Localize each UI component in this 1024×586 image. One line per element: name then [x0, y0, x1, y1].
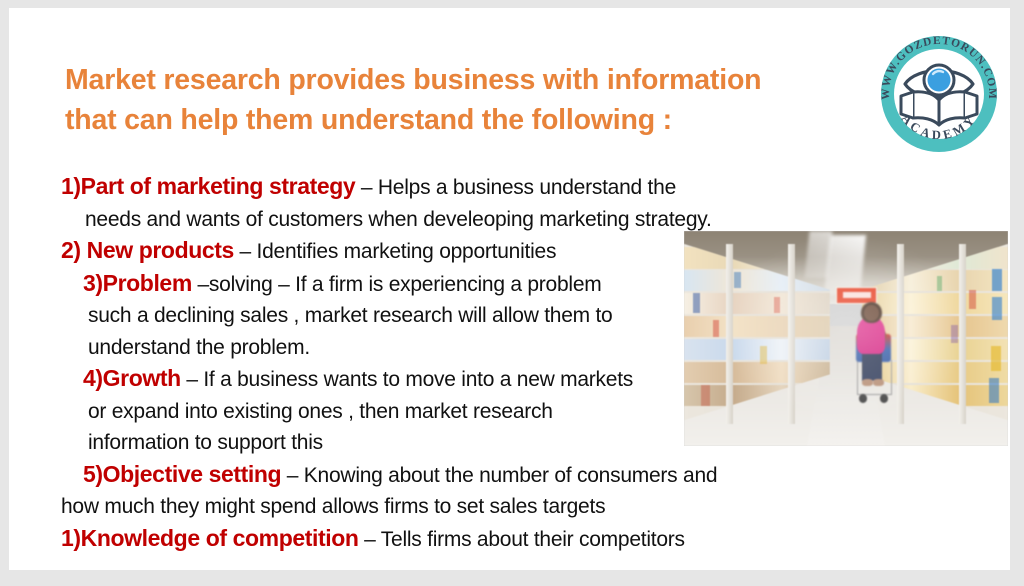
- list-item: 1)Part of marketing strategy – Helps a b…: [61, 171, 861, 204]
- list-item-rest: – Identifies marketing opportunities: [234, 240, 556, 263]
- slide-frame: Market research provides business with i…: [0, 0, 1024, 586]
- list-item-rest: – If a business wants to move into a new…: [181, 368, 633, 391]
- page-title: Market research provides business with i…: [65, 60, 825, 140]
- list-item-continuation: how much they might spend allows firms t…: [61, 491, 861, 523]
- slide-canvas: Market research provides business with i…: [9, 8, 1010, 570]
- list-item-lead: 1)Part of marketing strategy: [61, 173, 355, 199]
- page-title-line-1: Market research provides business with i…: [65, 60, 825, 100]
- list-item-rest: –solving – If a firm is experiencing a p…: [192, 273, 602, 296]
- list-item-lead: 5)Objective setting: [83, 461, 281, 487]
- supermarket-aisle-photo: [684, 231, 1008, 446]
- list-item-lead: 3)Problem: [83, 270, 192, 296]
- academy-logo: WWW.GOZDETORUN.COM ACADEMY: [867, 22, 1010, 166]
- list-item-lead: 4)Growth: [83, 365, 181, 391]
- list-item-rest: – Tells firms about their competitors: [359, 528, 685, 551]
- supermarket-aisle-photo-content: [684, 231, 1008, 446]
- list-item-lead: 2) New products: [61, 237, 234, 263]
- list-item: 5)Objective setting – Knowing about the …: [61, 459, 861, 492]
- list-item-rest: – Knowing about the number of consumers …: [281, 464, 717, 487]
- list-item-lead: 1)Knowledge of competition: [61, 525, 359, 551]
- list-item: 1)Knowledge of competition – Tells firms…: [61, 523, 861, 556]
- list-item-rest: – Helps a business understand the: [355, 176, 676, 199]
- page-title-line-2: that can help them understand the follow…: [65, 100, 825, 140]
